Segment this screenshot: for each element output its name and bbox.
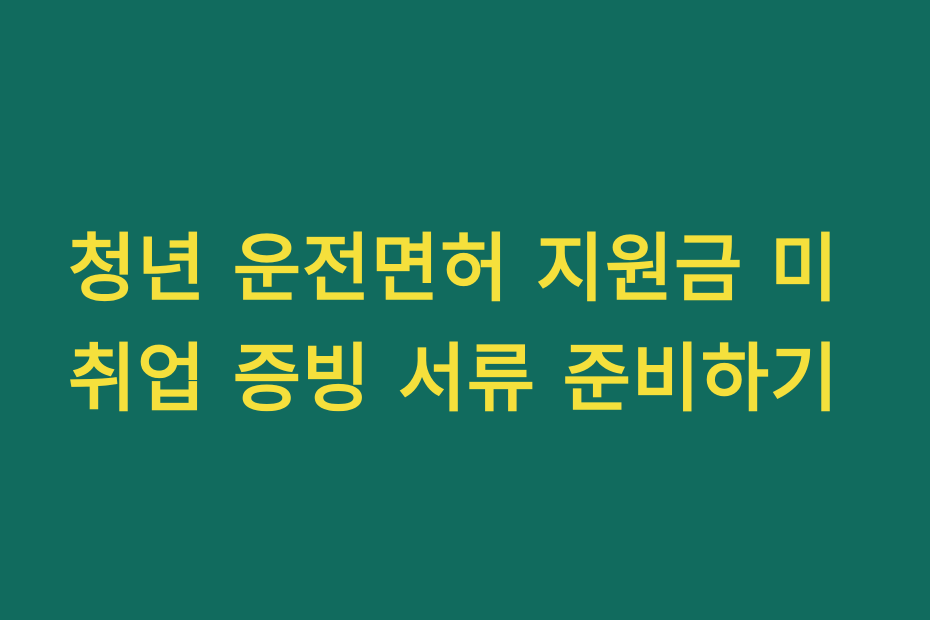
headline-line-2: 취업 증빙 서류 준비하기 bbox=[68, 324, 888, 434]
headline-block: 청년 운전면허 지원금 미 취업 증빙 서류 준비하기 bbox=[68, 214, 888, 434]
headline-line-1: 청년 운전면허 지원금 미 bbox=[68, 214, 888, 324]
poster-canvas: 청년 운전면허 지원금 미 취업 증빙 서류 준비하기 bbox=[0, 0, 930, 620]
